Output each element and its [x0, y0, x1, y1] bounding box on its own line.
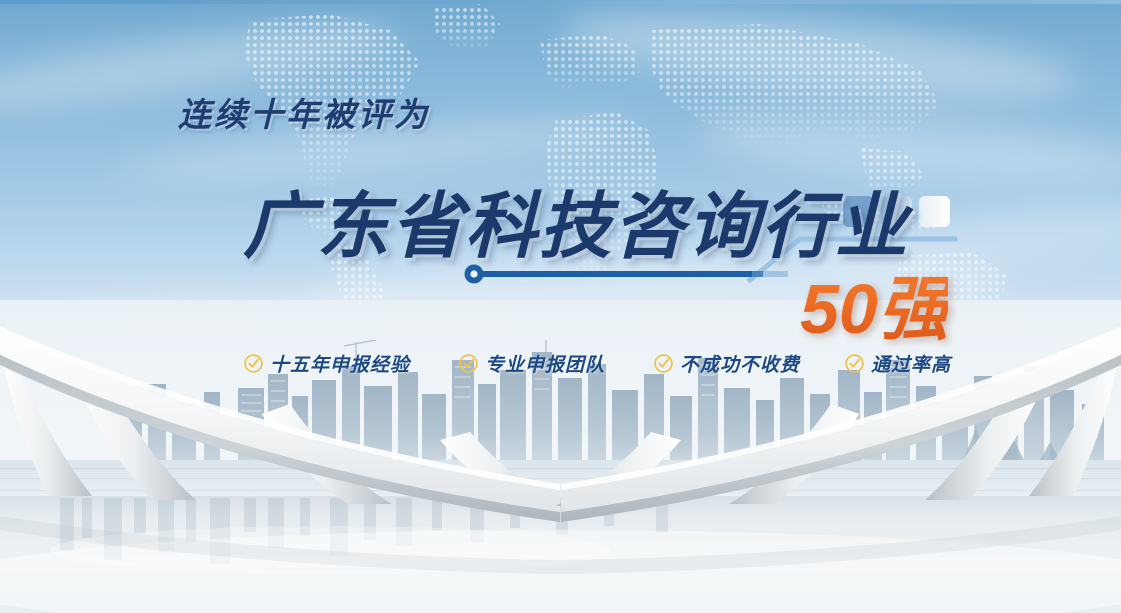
feature-label: 通过率高 — [871, 350, 951, 377]
check-circle-icon — [458, 353, 479, 374]
check-circle-icon — [243, 353, 264, 374]
top-accent-strip — [0, 0, 1121, 4]
promo-banner: 连续十年被评为 广东省科技咨询行业 50强 十五年申报经验 专业申报团队 — [0, 0, 1121, 613]
architecture-scene — [0, 300, 1121, 613]
check-circle-icon — [844, 353, 865, 374]
feature-label: 专业申报团队 — [485, 350, 605, 377]
feature-item: 通过率高 — [844, 350, 951, 377]
feature-label: 十五年申报经验 — [270, 350, 410, 377]
decor-square-white — [919, 196, 950, 227]
feature-item: 不成功不收费 — [653, 350, 800, 377]
feature-item: 十五年申报经验 — [243, 350, 410, 377]
rank-badge: 50强 — [800, 253, 948, 354]
feature-item: 专业申报团队 — [458, 350, 605, 377]
check-circle-icon — [653, 353, 674, 374]
feature-label: 不成功不收费 — [680, 350, 800, 377]
feature-list: 十五年申报经验 专业申报团队 不成功不收费 通过率高 — [243, 350, 951, 377]
eyebrow-text: 连续十年被评为 — [178, 88, 430, 136]
